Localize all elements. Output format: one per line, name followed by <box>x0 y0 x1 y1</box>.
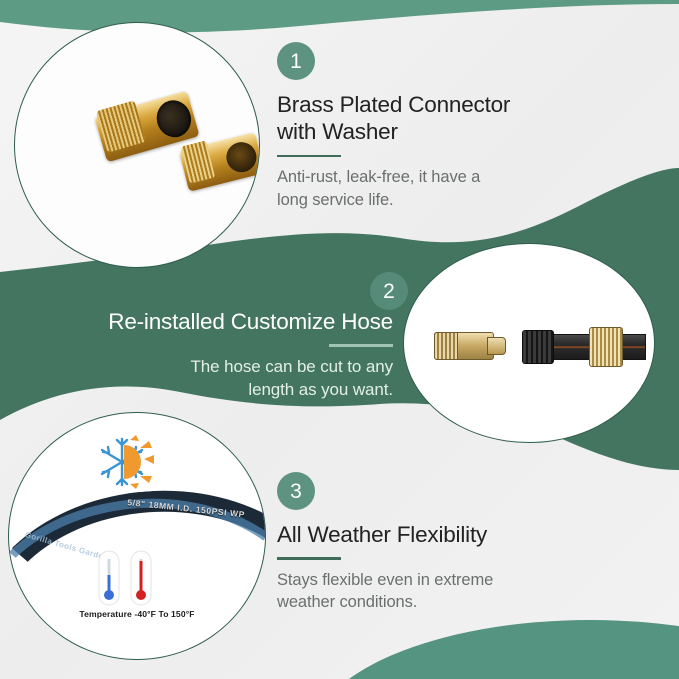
feature-3-description: Stays flexible even in extreme weather c… <box>277 569 577 614</box>
feature-1-text-block: 1 Brass Plated Connector with Washer Ant… <box>277 42 577 211</box>
infographic-canvas: 5/8" 18MM I.D. 150PSI WP Gorilla Tools G… <box>0 0 679 679</box>
feature-1-divider <box>277 155 341 157</box>
feature-2-image <box>403 243 655 443</box>
thermometer-hot-icon <box>131 551 151 605</box>
feature-1-description: Anti-rust, leak-free, it have a long ser… <box>277 166 577 211</box>
thermometer-cold-icon <box>99 551 119 605</box>
all-weather-illustration: 5/8" 18MM I.D. 150PSI WP Gorilla Tools G… <box>9 413 265 659</box>
feature-3-text-block: 3 All Weather Flexibility Stays flexible… <box>277 472 577 613</box>
brass-connector-illustration <box>15 23 259 267</box>
feature-2-number-badge: 2 <box>370 272 408 310</box>
snowflake-sun-icon <box>94 435 156 489</box>
feature-2-divider <box>329 344 393 346</box>
feature-2-description: The hose can be cut to any length as you… <box>28 356 393 402</box>
feature-3-image: 5/8" 18MM I.D. 150PSI WP Gorilla Tools G… <box>8 412 266 660</box>
feature-3-divider <box>277 557 341 559</box>
feature-3-title: All Weather Flexibility <box>277 521 577 548</box>
feature-2-text-block: 2 Re-installed Customize Hose The hose c… <box>28 308 393 402</box>
temperature-range-label: Temperature -40°F To 150°F <box>15 609 259 619</box>
thermometers-icon <box>93 549 161 607</box>
feature-1-number-badge: 1 <box>277 42 315 80</box>
feature-1-image <box>14 22 260 268</box>
brass-clamp-nut <box>589 327 623 367</box>
feature-3-number-badge: 3 <box>277 472 315 510</box>
repair-male-barb <box>487 337 506 355</box>
feature-1-title: Brass Plated Connector with Washer <box>277 91 577 146</box>
sun-icon <box>124 435 154 489</box>
feature-2-title: Re-installed Customize Hose <box>28 308 393 335</box>
hose-ferrule <box>522 330 554 364</box>
repair-connector-illustration <box>404 244 654 442</box>
repair-male-thread <box>434 332 458 360</box>
